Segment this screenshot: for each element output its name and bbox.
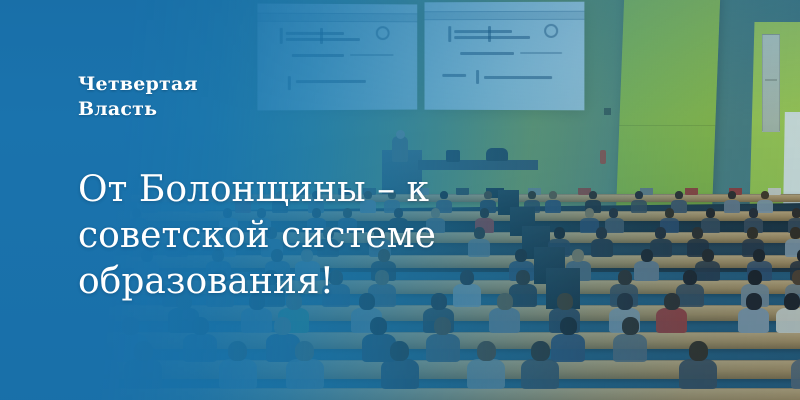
site-logo[interactable]: Четвертая Власть xyxy=(78,72,800,123)
card-content: Четвертая Власть От Болонщины – к советс… xyxy=(0,0,800,400)
logo-line-2: Власть xyxy=(78,97,800,122)
article-share-card: Четвертая Власть От Болонщины – к советс… xyxy=(0,0,800,400)
logo-line-1: Четвертая xyxy=(78,73,198,95)
article-headline: От Болонщины – к советской системе образ… xyxy=(78,167,548,305)
